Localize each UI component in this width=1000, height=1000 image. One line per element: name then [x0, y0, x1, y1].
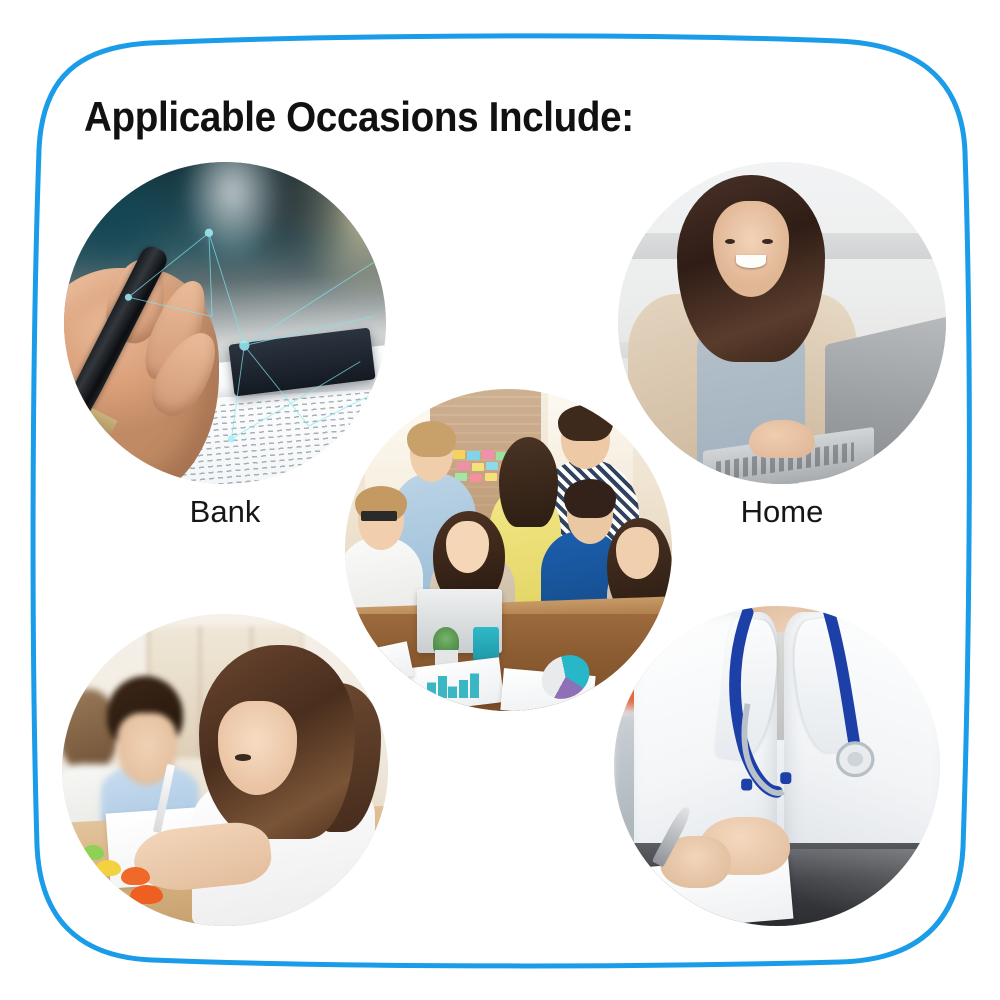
occasion-bank[interactable]: Bank — [64, 162, 386, 484]
occasion-caption-bank: Bank — [64, 494, 386, 530]
bank-network-overlay — [64, 162, 386, 484]
page-title: Applicable Occasions Include: — [84, 93, 634, 141]
office-hair-blue — [564, 479, 616, 518]
product-feature-panel: Applicable Occasions Include: — [0, 0, 1000, 1000]
bank-scene — [64, 162, 386, 484]
school-scene — [62, 614, 388, 926]
school-number-shape-yellow — [95, 860, 121, 876]
office-hair-yellow — [499, 437, 558, 527]
occasion-school[interactable]: School — [62, 614, 388, 926]
school-girl-eye — [235, 754, 251, 760]
office-glasses-icon — [361, 511, 397, 521]
office-bar-chart-printout — [427, 672, 486, 698]
health-care-circle-image — [614, 606, 940, 926]
office-hair-plaid — [558, 405, 614, 440]
school-number-shape-orange — [121, 867, 150, 886]
office-hair-lightblue — [407, 421, 456, 456]
health-care-scene — [614, 606, 940, 926]
home-smile — [736, 255, 766, 268]
school-number-shape-orange-2 — [130, 885, 163, 904]
bank-circle-image — [64, 162, 386, 484]
school-circle-image — [62, 614, 388, 926]
office-head-center-woman — [446, 521, 489, 573]
occasion-health-care[interactable]: Health Care — [614, 606, 940, 926]
school-number-shape-green — [82, 845, 105, 861]
home-hand — [749, 420, 815, 459]
